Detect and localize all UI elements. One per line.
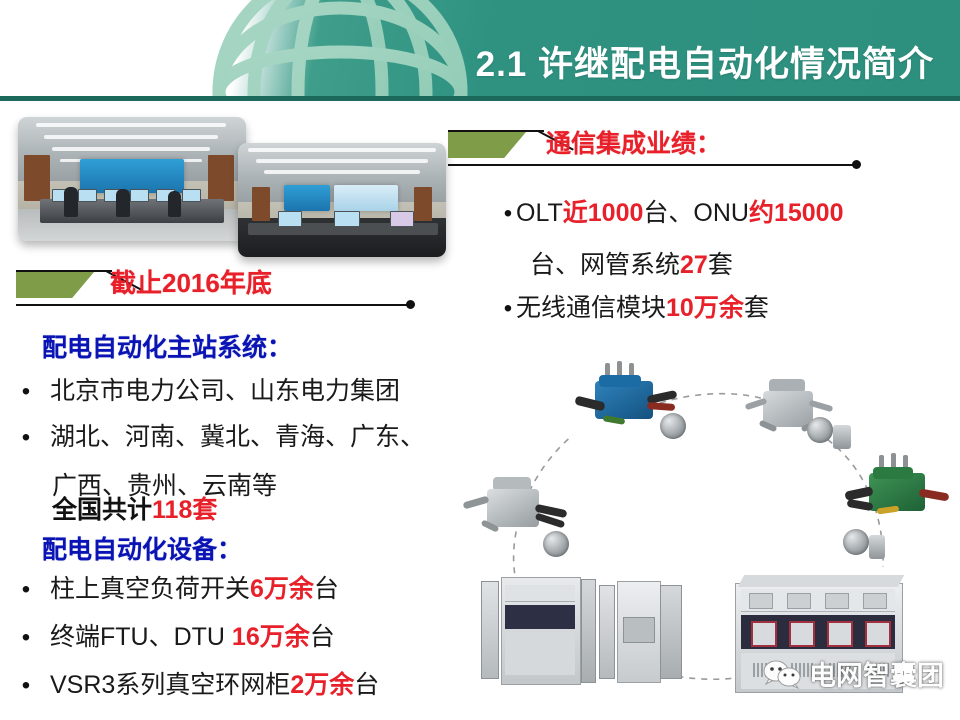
list-item-text: 北京市电力公司、山东电力集团 [34, 374, 400, 409]
sensor-module [843, 529, 869, 555]
slide-header: 2.1 许继配电自动化情况简介 [0, 0, 960, 96]
switch-count: 6万余 [250, 575, 314, 603]
section-tab-communication: 通信集成业绩： [448, 126, 868, 172]
tab-trapezoid-shape [448, 132, 526, 158]
wechat-icon [762, 658, 802, 690]
watermark-text: 电网智囊团 [809, 654, 944, 693]
national-total-value: 118套 [152, 496, 217, 524]
vsr3-label: VSR3系列真空环网柜 [50, 671, 290, 699]
page-title: 2.1 许继配电自动化情况简介 [476, 36, 934, 87]
heading-master-station: 配电自动化主站系统： [42, 328, 292, 364]
olt-label: OLT [516, 199, 563, 227]
nms-label: 台、网管系统 [530, 251, 680, 279]
ftu-dtu-unit: 台 [310, 623, 335, 651]
sensor-bracket [833, 425, 851, 449]
tab-top-line [16, 270, 112, 272]
bullet-marker: • [18, 620, 34, 650]
list-item-continuation: 台、网管系统27套 [530, 245, 733, 281]
list-item: • 无线通信模块10万余套 [500, 291, 930, 326]
sensor-bracket [869, 535, 885, 559]
wireless-label: 无线通信模块 [516, 294, 666, 322]
slide-root: 2.1 许继配电自动化情况简介 [0, 0, 960, 720]
list-item: • 柱上真空负荷开关6万余台 [18, 572, 458, 607]
list-item-text: 柱上真空负荷开关6万余台 [34, 572, 339, 607]
sensor-module [543, 531, 569, 557]
list-item-text: 无线通信模块10万余套 [516, 291, 769, 326]
list-item-text: 终端FTU、DTU 16万余台 [34, 620, 335, 655]
section-tab-communication-label: 通信集成业绩： [546, 124, 721, 160]
vsr3-count: 2万余 [290, 671, 354, 699]
list-item-text: VSR3系列真空环网柜2万余台 [34, 668, 379, 703]
bullet-marker: • [18, 572, 34, 602]
bullet-marker: • [500, 291, 516, 321]
bullet-marker: • [18, 668, 34, 698]
national-total-label: 全国共计 [52, 496, 152, 524]
header-divider-highlight [0, 101, 960, 103]
nms-unit: 套 [708, 251, 733, 279]
heading-equipment: 配电自动化设备： [42, 530, 242, 566]
vsr3-unit: 台 [354, 671, 379, 699]
control-room-photo-2 [238, 143, 446, 257]
olt-count: 近1000 [563, 199, 644, 227]
switch-unit: 台 [314, 575, 339, 603]
pole-mounted-switch-green [843, 455, 951, 533]
list-item: • 北京市电力公司、山东电力集团 [18, 374, 448, 409]
tab-trapezoid-shape [16, 272, 94, 298]
tab-base-line [448, 164, 856, 166]
nms-count: 27 [680, 251, 708, 279]
bullet-marker: • [18, 420, 34, 450]
tab-base-line [16, 304, 410, 306]
bullet-marker: • [18, 374, 34, 404]
control-room-photo-1 [18, 117, 246, 241]
outdoor-dtu-cabinet [467, 577, 687, 687]
list-item: • VSR3系列真空环网柜2万余台 [18, 668, 468, 703]
onu-label: 台、ONU [643, 199, 749, 227]
onu-count: 约15000 [749, 199, 844, 227]
list-item-text: OLT近1000台、ONU约15000 [516, 196, 843, 231]
tab-end-dot [852, 160, 861, 169]
bullet-marker: • [500, 196, 516, 226]
list-item: • 湖北、河南、冀北、青海、广东、 [18, 420, 448, 455]
sensor-module [807, 417, 833, 443]
list-item: • OLT近1000台、ONU约15000 [500, 196, 930, 231]
wireless-unit: 套 [744, 294, 769, 322]
tab-top-line [448, 130, 544, 132]
wireless-count: 10万余 [666, 294, 744, 322]
section-tab-deadline-label: 截止2016年底 [110, 263, 272, 300]
switch-label: 柱上真空负荷开关 [50, 575, 250, 603]
sensor-module [660, 413, 686, 439]
tab-end-dot [406, 300, 415, 309]
ftu-dtu-label: 终端FTU、DTU [50, 623, 232, 651]
ftu-dtu-count: 16万余 [232, 623, 310, 651]
list-item-text: 湖北、河南、冀北、青海、广东、 [34, 420, 425, 455]
section-tab-deadline: 截止2016年底 [16, 266, 436, 312]
watermark: 电网智囊团 [762, 654, 944, 693]
list-item: • 终端FTU、DTU 16万余台 [18, 620, 458, 655]
national-total-line: 全国共计118套 [52, 490, 217, 526]
